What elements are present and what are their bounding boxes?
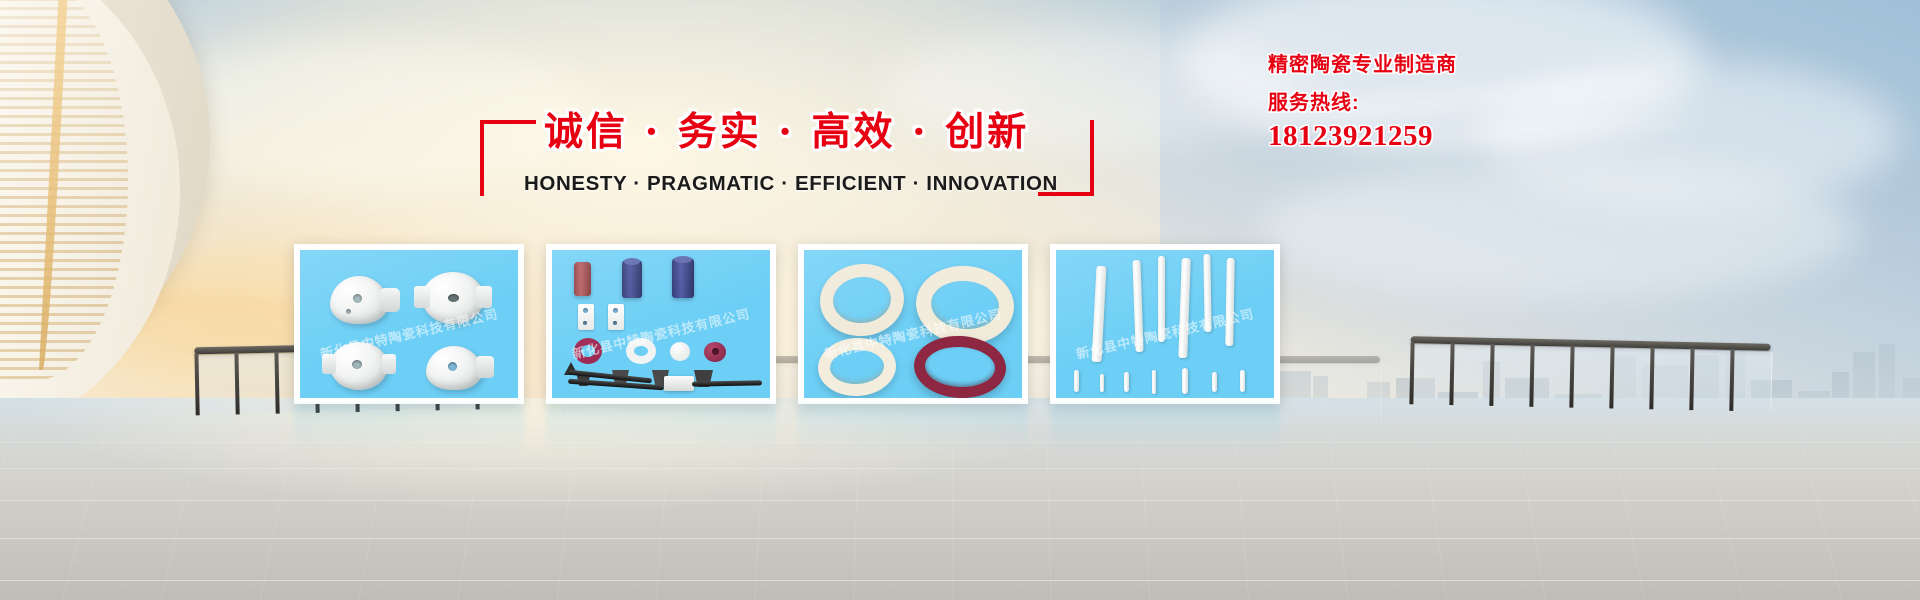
contact-block: 精密陶瓷专业制造商 服务热线: 18123921259 <box>1268 52 1688 154</box>
panel-reflection <box>798 404 1028 454</box>
product-panel-3-image: 新化县中特陶瓷科技有限公司 <box>804 250 1022 398</box>
railing-right <box>1409 336 1770 414</box>
product-panel-1-image: 新化县中特陶瓷科技有限公司 <box>300 250 518 398</box>
company-tagline: 精密陶瓷专业制造商 <box>1268 52 1688 78</box>
hotline-label: 服务热线: <box>1268 90 1688 116</box>
panel-reflection <box>546 404 776 454</box>
panel-reflection <box>294 404 524 454</box>
slogan-block: 诚信 · 务实 · 高效 · 创新 HONESTY · PRAGMATIC · … <box>480 104 1090 204</box>
slogan-chinese: 诚信 · 务实 · 高效 · 创新 <box>544 104 1026 160</box>
panel-reflection <box>1050 404 1280 454</box>
product-panel-3[interactable]: 新化县中特陶瓷科技有限公司 <box>798 244 1028 404</box>
product-panel-2-image: 新化县中特陶瓷科技有限公司 <box>552 250 770 398</box>
slogan-english: HONESTY · PRAGMATIC · EFFICIENT · INNOVA… <box>524 172 1046 196</box>
product-panel-4-image: 新化县中特陶瓷科技有限公司 <box>1056 250 1274 398</box>
hotline-number[interactable]: 18123921259 <box>1268 118 1688 154</box>
banner-root: 诚信 · 务实 · 高效 · 创新 HONESTY · PRAGMATIC · … <box>0 0 1920 600</box>
product-panel-2[interactable]: 新化县中特陶瓷科技有限公司 <box>546 244 776 404</box>
product-panel-4[interactable]: 新化县中特陶瓷科技有限公司 <box>1050 244 1280 404</box>
product-panel-1[interactable]: 新化县中特陶瓷科技有限公司 <box>294 244 524 404</box>
